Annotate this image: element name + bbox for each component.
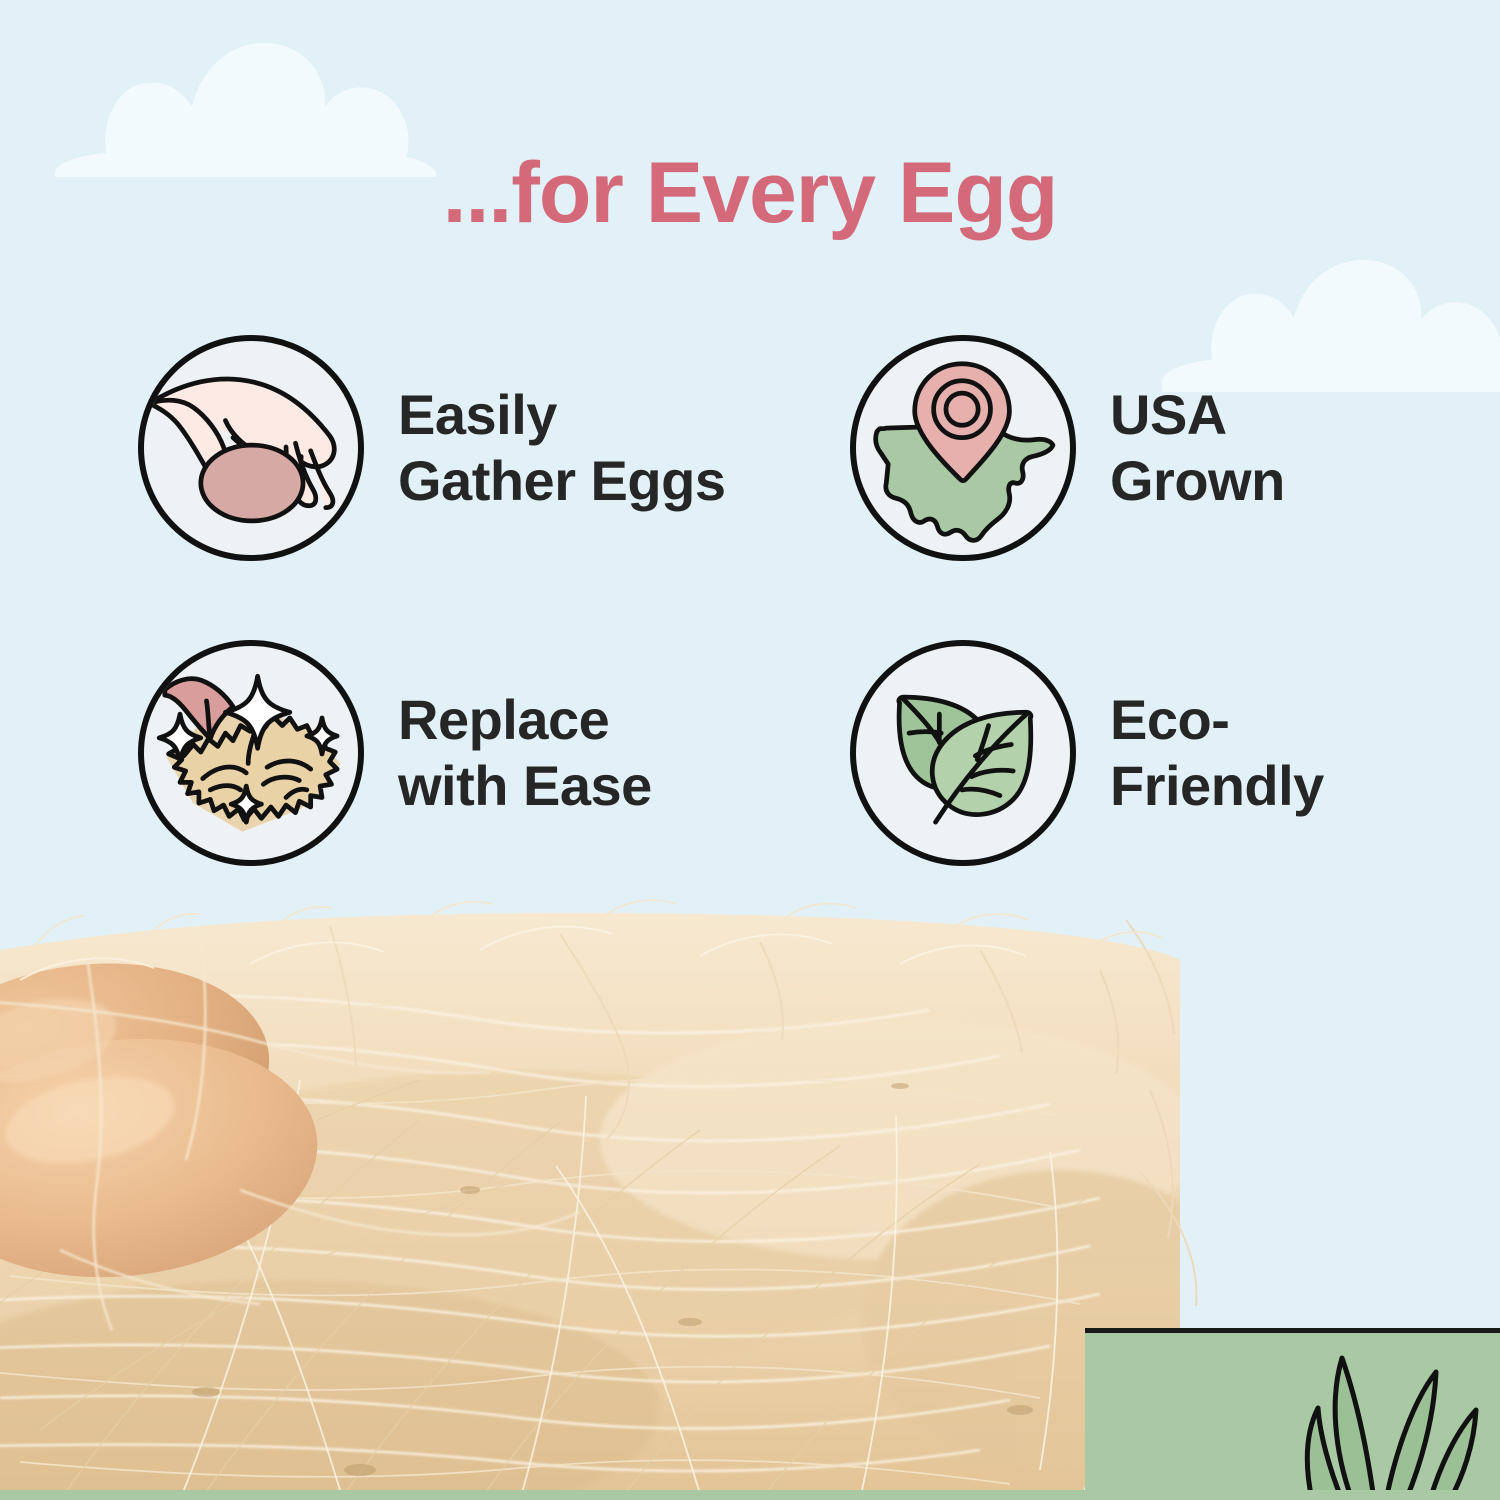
promo-graphic: ...for Every Egg <box>0 0 1500 1500</box>
page-title: ...for Every Egg <box>0 150 1500 236</box>
feature-item-usa-grown: USA Grown <box>850 295 1438 600</box>
two-leaves-icon <box>850 640 1076 866</box>
feature-label-gather-eggs: Easily Gather Eggs <box>398 382 725 513</box>
nest-pad-sparkle-icon <box>138 640 364 866</box>
feature-item-eco-friendly: Eco- Friendly <box>850 600 1438 905</box>
feature-item-gather-eggs: Easily Gather Eggs <box>138 295 850 600</box>
feature-item-replace-with-ease: Replace with Ease <box>138 600 850 905</box>
hand-picking-egg-icon <box>138 335 364 561</box>
feature-label-eco-friendly: Eco- Friendly <box>1110 687 1324 818</box>
feature-label-replace-with-ease: Replace with Ease <box>398 687 652 818</box>
usa-map-pin-icon <box>850 335 1076 561</box>
grass-illustration <box>1290 1350 1500 1500</box>
feature-label-usa-grown: USA Grown <box>1110 382 1285 513</box>
feature-grid: Easily Gather Eggs USA Grown <box>138 295 1438 905</box>
bottom-green-strip <box>0 1490 1500 1500</box>
